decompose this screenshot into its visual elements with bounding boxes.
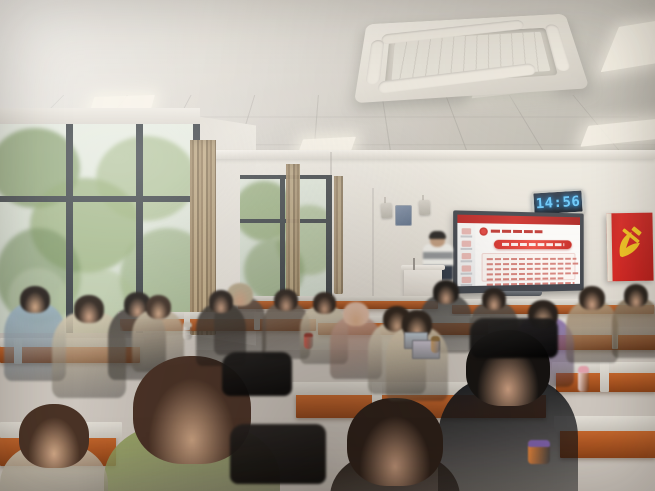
person-head (74, 295, 104, 323)
thermos-bottle-red (304, 333, 313, 349)
person-head (624, 284, 648, 307)
cup-amber (431, 336, 440, 353)
bottle-cap (431, 336, 440, 341)
person-head (482, 288, 506, 310)
thermos-bottle-white (183, 322, 192, 340)
person-head (146, 295, 171, 319)
slide-content-card (482, 253, 576, 282)
smart-display[interactable] (453, 210, 584, 293)
person-head (579, 286, 605, 310)
student-right-edge (612, 284, 655, 367)
wall-crown-molding (196, 150, 655, 159)
person-head (209, 290, 233, 313)
communist-party-flag (606, 213, 653, 282)
wall-control-panel[interactable] (395, 205, 412, 226)
slide-sidebar (457, 223, 476, 286)
person-head (19, 404, 89, 468)
student-beige-coat-right (386, 310, 448, 412)
smart-display-screen[interactable] (457, 215, 580, 287)
podium-top (401, 265, 445, 270)
curtain (286, 164, 300, 304)
wall-speaker-icon (419, 200, 431, 216)
person-head (343, 302, 369, 326)
wall-seam (372, 188, 374, 300)
thermos-bottle-pink (578, 366, 589, 392)
person-torso (612, 298, 655, 358)
slide-header-row (479, 227, 576, 236)
bag-dark-bottom (230, 424, 326, 484)
bottle-cap (183, 322, 192, 327)
ceiling-cassette-ac-icon (354, 14, 590, 103)
person-head (433, 280, 459, 304)
bottle-cap (304, 333, 313, 337)
classroom-photo: 14:56 (0, 0, 655, 491)
slide-title-banner (494, 240, 572, 249)
person-head (20, 286, 50, 313)
slide-body (475, 223, 580, 286)
slide-title-text (502, 243, 564, 246)
slide-header-text (491, 230, 543, 234)
wall-speaker-icon (380, 203, 392, 219)
thermos-bottle-orange (528, 440, 550, 464)
curtain (334, 176, 343, 294)
ac-vane (365, 40, 384, 85)
student-left-bottom (0, 404, 108, 491)
backpack-black-center (222, 352, 292, 396)
microphone-stand (413, 258, 415, 270)
window-header (0, 108, 200, 124)
bottle-cap (578, 366, 589, 373)
clock-time-text: 14:56 (535, 193, 581, 212)
backpack-black-right (470, 318, 558, 358)
bottle-cap (528, 440, 550, 447)
hammer-and-sickle-icon (615, 226, 648, 263)
flag-hoist-edge (606, 213, 612, 281)
slide-seal-icon (479, 227, 487, 235)
person-head (274, 289, 298, 311)
presenter-hair (429, 231, 446, 239)
